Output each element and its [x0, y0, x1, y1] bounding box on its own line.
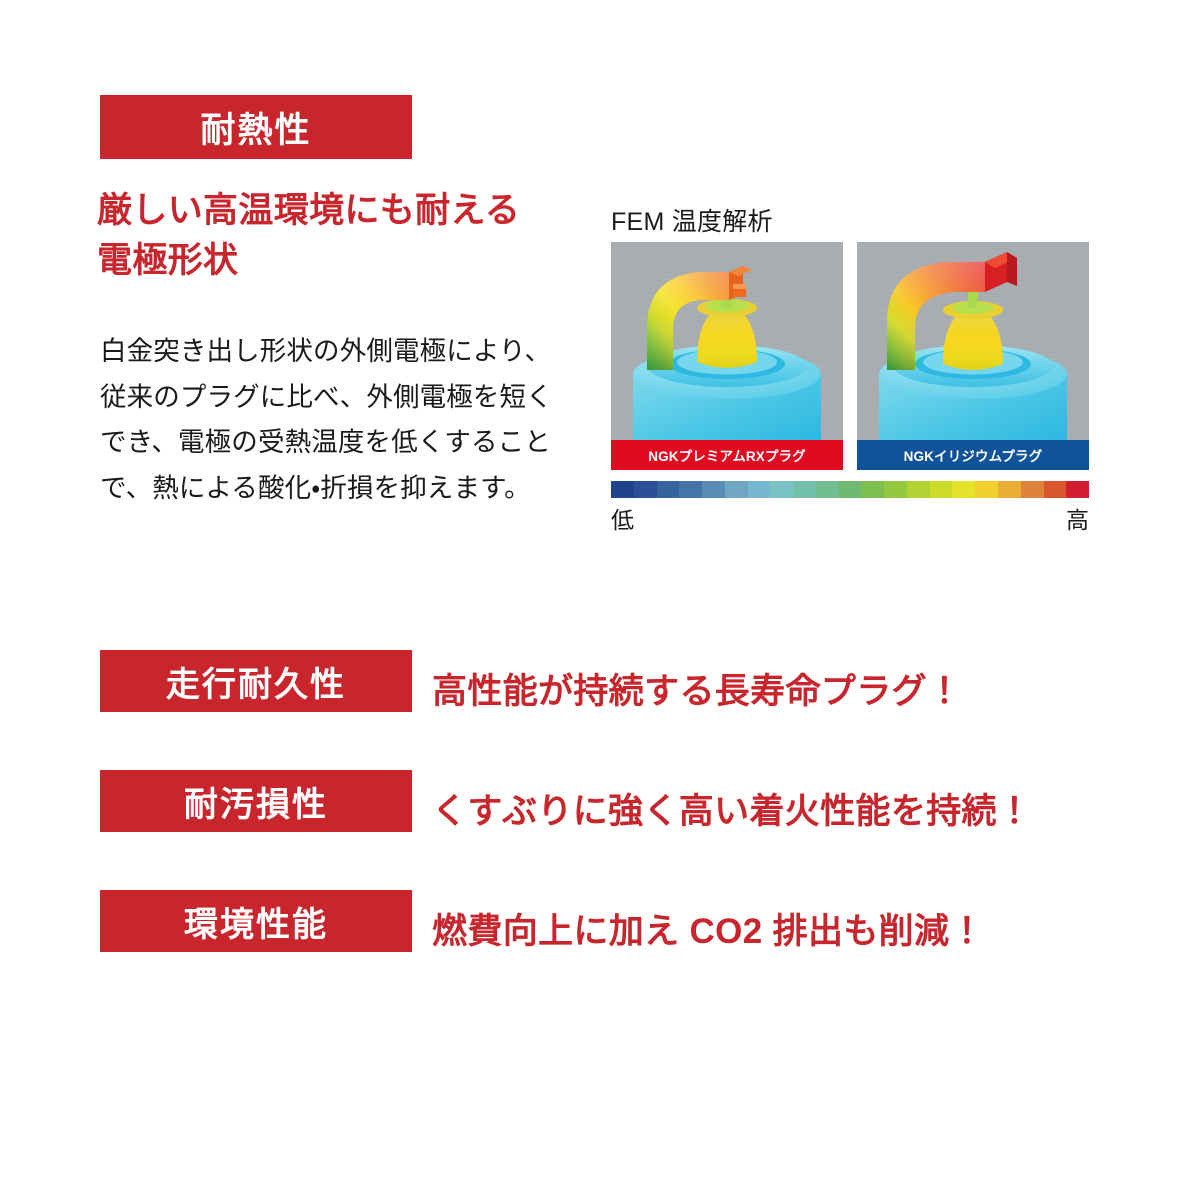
color-scale-segment-3 — [679, 481, 702, 498]
color-scale-segment-2 — [657, 481, 680, 498]
fem-panel-premium-rx: NGKプレミアムRXプラグ — [611, 242, 843, 470]
badge-label: 耐汚損性 — [184, 777, 328, 826]
heat-resistance-body: 白金突き出し形状の外側電極により、 従来のプラグに比べ、外側電極を短く でき、電… — [100, 329, 588, 511]
color-scale-segment-20 — [1066, 481, 1089, 498]
color-scale-labels: 低 高 — [611, 501, 1089, 531]
body-line: でき、電極の受熱温度を低くすること — [100, 420, 588, 466]
fem-caption-premium-rx: NGKプレミアムRXプラグ — [611, 440, 843, 470]
feature-badge-durability: 走行耐久性 — [100, 650, 412, 712]
color-scale-segment-17 — [998, 481, 1021, 498]
spark-plug-thermal-render-iridium — [857, 242, 1089, 470]
page-root: 耐熱性 厳しい高温環境にも耐える 電極形状 白金突き出し形状の外側電極により、 … — [0, 0, 1200, 1200]
color-scale-segment-15 — [952, 481, 975, 498]
headline-line-2: 電極形状 — [97, 236, 617, 286]
fem-caption-label: NGKプレミアムRXプラグ — [648, 445, 806, 465]
color-scale-segment-19 — [1044, 481, 1067, 498]
fem-analysis-title: FEM 温度解析 — [611, 202, 773, 238]
color-scale-segment-16 — [975, 481, 998, 498]
fem-caption-label: NGKイリジウムプラグ — [904, 445, 1043, 465]
color-scale-segment-14 — [930, 481, 953, 498]
scale-low-label: 低 — [611, 501, 634, 535]
scale-high-label: 高 — [1066, 501, 1089, 535]
color-scale-segment-12 — [884, 481, 907, 498]
fem-caption-iridium: NGKイリジウムプラグ — [857, 440, 1089, 470]
feature-text-durability: 高性能が持続する長寿命プラグ！ — [432, 663, 962, 714]
color-scale-segment-8 — [793, 481, 816, 498]
badge-label: 走行耐久性 — [166, 657, 346, 706]
heat-resistance-headline: 厳しい高温環境にも耐える 電極形状 — [97, 186, 617, 287]
headline-line-1: 厳しい高温環境にも耐える — [97, 191, 520, 230]
color-scale-segment-4 — [702, 481, 725, 498]
fem-panel-group: NGKプレミアムRXプラグ — [611, 242, 1089, 470]
color-scale-segment-11 — [861, 481, 884, 498]
body-line: で、熱による酸化・折損を抑えます。 — [100, 466, 588, 512]
badge-label: 耐熱性 — [200, 102, 311, 153]
feature-text-eco: 燃費向上に加え CO2 排出も削減！ — [432, 903, 985, 954]
feature-badge-eco: 環境性能 — [100, 890, 412, 952]
fem-panel-iridium: NGKイリジウムプラグ — [857, 242, 1089, 470]
color-scale-segment-7 — [770, 481, 793, 498]
color-scale-bar — [611, 481, 1089, 498]
badge-label: 環境性能 — [184, 897, 328, 946]
section-badge-heat-resistance: 耐熱性 — [100, 95, 412, 159]
color-scale-segment-6 — [748, 481, 771, 498]
body-line: 従来のプラグに比べ、外側電極を短く — [100, 375, 588, 421]
color-scale-segment-18 — [1021, 481, 1044, 498]
spark-plug-thermal-render-rx — [611, 242, 843, 470]
color-scale-segment-5 — [725, 481, 748, 498]
color-scale-segment-0 — [611, 481, 634, 498]
color-scale-segment-9 — [816, 481, 839, 498]
feature-badge-fouling: 耐汚損性 — [100, 770, 412, 832]
color-scale-segment-10 — [839, 481, 862, 498]
feature-text-fouling: くすぶりに強く高い着火性能を持続！ — [432, 783, 1032, 834]
body-line: 白金突き出し形状の外側電極により、 — [100, 329, 588, 375]
temperature-color-scale: 低 高 — [611, 481, 1089, 531]
color-scale-segment-13 — [907, 481, 930, 498]
color-scale-segment-1 — [634, 481, 657, 498]
